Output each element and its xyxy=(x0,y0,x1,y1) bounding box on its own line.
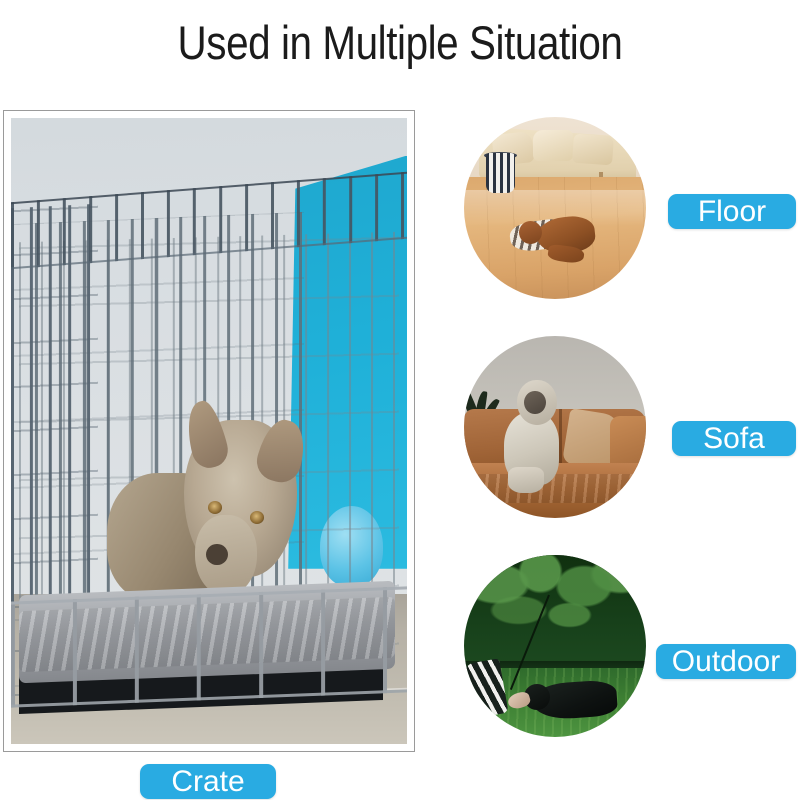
sofa-cushion-3 xyxy=(572,134,614,166)
thumbnail-outdoor[interactable] xyxy=(464,555,646,737)
sofa-backrest-seam xyxy=(559,409,562,467)
sofa-dog-face xyxy=(524,391,546,415)
dog-eye-right xyxy=(250,511,265,524)
crate-front-railing xyxy=(11,586,407,707)
label-outdoor[interactable]: Outdoor xyxy=(656,644,796,679)
sofa-seat-texture xyxy=(464,474,646,503)
thumbnail-sofa[interactable] xyxy=(464,336,646,518)
main-photo-crate[interactable] xyxy=(11,118,407,744)
dog-nose xyxy=(206,544,228,565)
sofa-cushion-2 xyxy=(533,130,573,161)
outdoor-tree-canopy xyxy=(464,555,646,675)
sofa-dog-legs xyxy=(508,467,544,492)
main-photo-frame[interactable] xyxy=(3,110,415,752)
label-floor[interactable]: Floor xyxy=(668,194,796,229)
thumbnail-floor[interactable] xyxy=(464,117,646,299)
label-sofa[interactable]: Sofa xyxy=(672,421,796,456)
page-title: Used in Multiple Situation xyxy=(56,14,744,72)
striped-basket xyxy=(486,153,515,193)
label-crate[interactable]: Crate xyxy=(140,764,276,799)
